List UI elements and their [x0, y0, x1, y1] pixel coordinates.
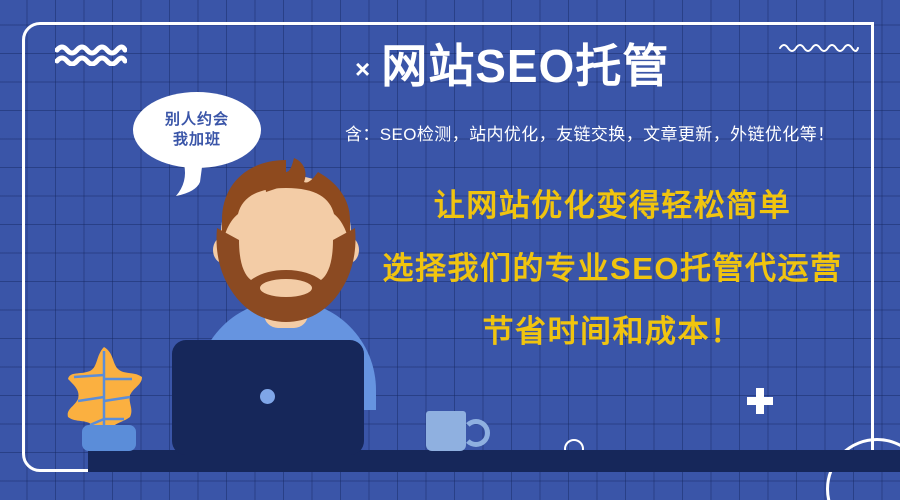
- speech-bubble-line-2: 我加班: [173, 130, 221, 150]
- subline-text: 含：SEO检测，站内优化，友链交换，文章更新，外链优化等！: [345, 120, 885, 145]
- seo-hosting-banner: 别人约会 我加班 ×网站SEO托管: [0, 0, 900, 500]
- slogan-line-2: 选择我们的专业SEO托管代运营: [340, 253, 885, 284]
- speech-bubble-line-1: 别人约会: [165, 110, 229, 130]
- plant-pot: [82, 425, 136, 451]
- plus-mark-icon: [747, 388, 773, 414]
- headline-bullet-icon: ×: [355, 54, 371, 84]
- coffee-mug: [426, 411, 466, 451]
- speech-bubble: 别人约会 我加班: [133, 92, 261, 168]
- headline: ×网站SEO托管: [355, 42, 885, 90]
- headline-title: 网站SEO托管: [381, 40, 669, 92]
- slogan-line-1: 让网站优化变得轻松简单: [340, 190, 885, 221]
- laptop-logo-icon: [260, 389, 275, 404]
- double-wave-squiggle-icon: [55, 44, 127, 66]
- slogan-block: 让网站优化变得轻松简单 选择我们的专业SEO托管代运营 节省时间和成本！: [340, 190, 885, 347]
- person-beard-icon: [213, 228, 359, 323]
- mug-handle: [462, 419, 490, 447]
- slogan-line-3: 节省时间和成本！: [340, 316, 885, 347]
